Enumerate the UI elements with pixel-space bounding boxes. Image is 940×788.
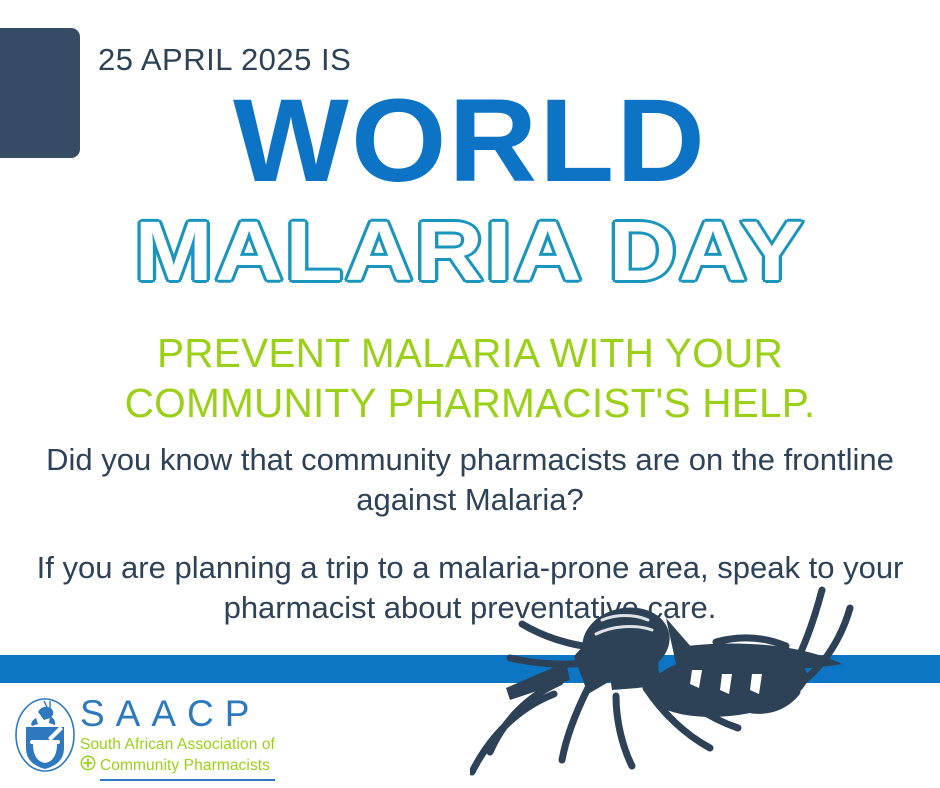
title-line-world: WORLD	[0, 82, 940, 200]
saacp-logo: SAACP South African Association of Commu…	[14, 694, 284, 778]
tagline-line-2: COMMUNITY PHARMACIST'S HELP.	[44, 378, 895, 428]
saacp-acronym: SAACP	[80, 694, 280, 734]
mosquito-illustration	[470, 560, 920, 788]
saacp-subtitle-line-2: Community Pharmacists	[100, 756, 270, 775]
poster-canvas: 25 APRIL 2025 IS WORLD MALARIA DAY PREVE…	[0, 0, 940, 788]
saacp-subtitle-line-1: South African Association of	[80, 735, 280, 754]
saacp-badge-icon	[14, 696, 76, 774]
saacp-logo-text: SAACP South African Association of Commu…	[80, 694, 280, 781]
green-cross-circle-icon	[80, 755, 96, 776]
tagline-line-1: PREVENT MALARIA WITH YOUR	[44, 328, 895, 378]
saacp-subtitle-row-2: Community Pharmacists	[80, 755, 280, 776]
date-eyebrow-text: 25 APRIL 2025 IS	[98, 41, 351, 79]
mosquito-icon	[470, 560, 920, 788]
body-paragraph-1: Did you know that community pharmacists …	[22, 440, 918, 520]
title-line-malaria-day: MALARIA DAY	[0, 205, 940, 297]
saacp-underline-rule	[100, 779, 275, 781]
tagline-block: PREVENT MALARIA WITH YOUR COMMUNITY PHAR…	[44, 328, 895, 428]
